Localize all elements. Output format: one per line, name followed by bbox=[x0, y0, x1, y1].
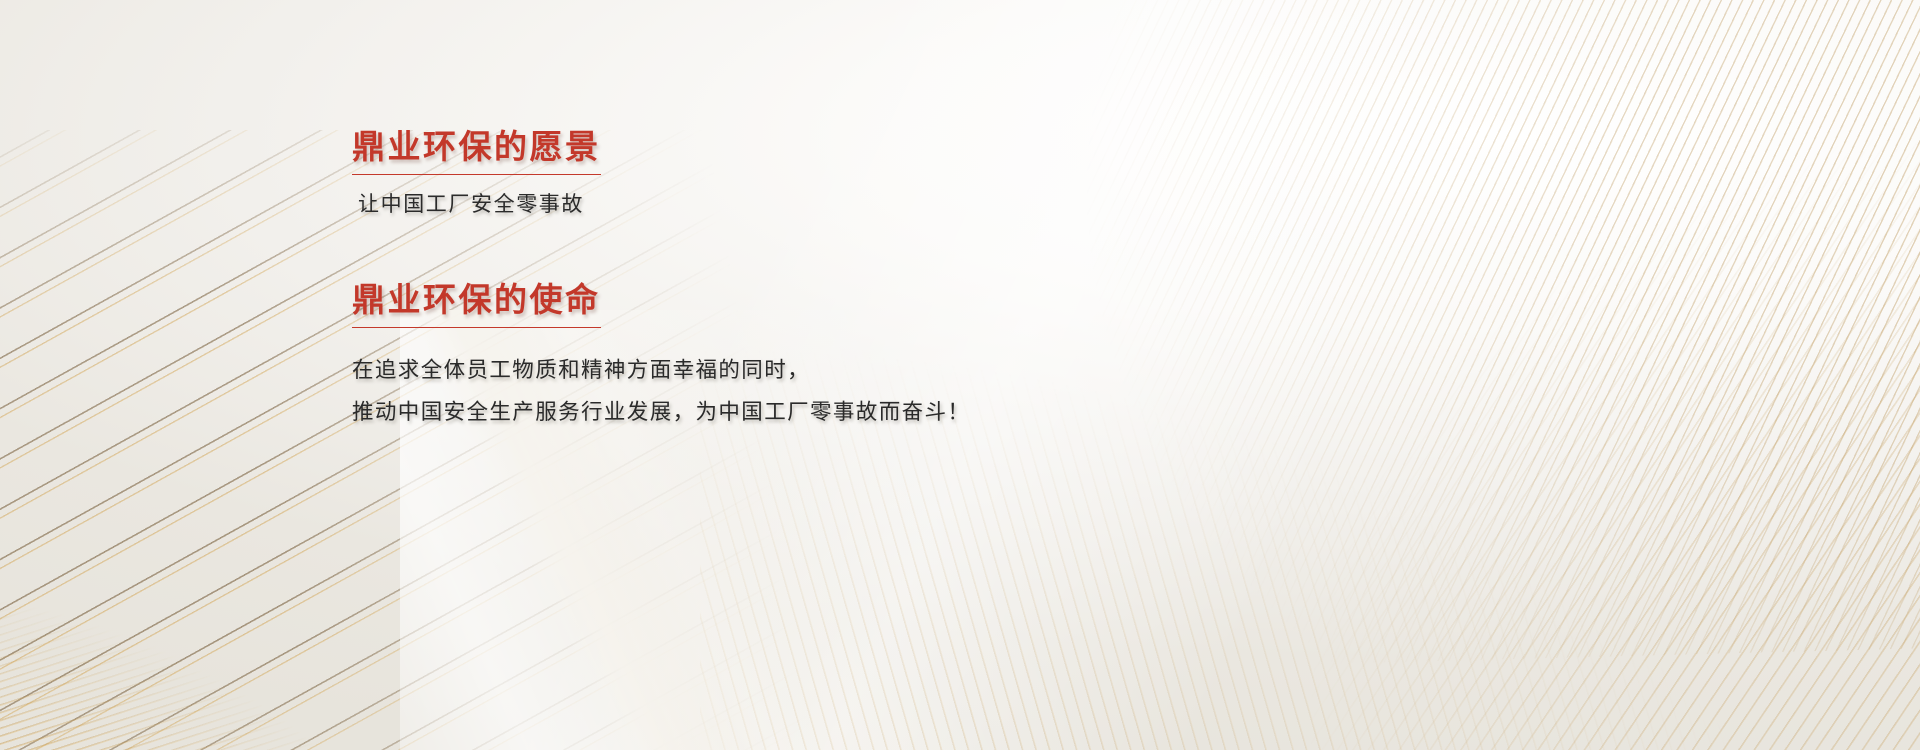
mission-body-line-1: 在追求全体员工物质和精神方面幸福的同时， bbox=[352, 350, 1252, 392]
vision-heading: 鼎业环保的愿景 bbox=[352, 126, 601, 175]
banner-content: 鼎业环保的愿景 让中国工厂安全零事故 鼎业环保的使命 在追求全体员工物质和精神方… bbox=[352, 126, 1252, 434]
mission-heading: 鼎业环保的使命 bbox=[352, 279, 601, 328]
vision-subtitle: 让中国工厂安全零事故 bbox=[358, 189, 1252, 221]
vision-mission-banner: 鼎业环保的愿景 让中国工厂安全零事故 鼎业环保的使命 在追求全体员工物质和精神方… bbox=[0, 0, 1920, 750]
mission-body-line-2: 推动中国安全生产服务行业发展，为中国工厂零事故而奋斗！ bbox=[352, 392, 1252, 434]
vision-block: 鼎业环保的愿景 让中国工厂安全零事故 bbox=[352, 126, 1252, 221]
mission-body: 在追求全体员工物质和精神方面幸福的同时， 推动中国安全生产服务行业发展，为中国工… bbox=[352, 350, 1252, 434]
mission-block: 鼎业环保的使命 在追求全体员工物质和精神方面幸福的同时， 推动中国安全生产服务行… bbox=[352, 279, 1252, 434]
